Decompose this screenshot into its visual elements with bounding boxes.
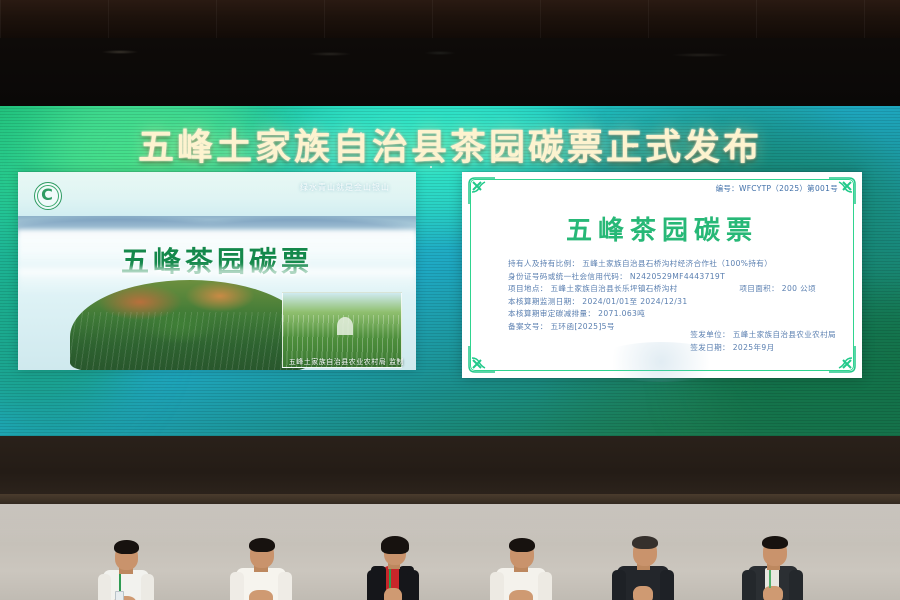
certificate-line-text: 身份证号码或统一社会信用代码： N2420529MF4443719T <box>508 272 725 281</box>
certificate-line: 本核算期监测日期： 2024/01/01至 2024/12/31 <box>508 296 838 309</box>
poster-panel: C 绿水青山就是金山银山 五峰茶园碳票 五峰土家族自治县农业农村局 监制 <box>18 172 416 370</box>
certificate-watermark <box>594 342 728 382</box>
clapping-hands <box>384 588 402 600</box>
hair <box>381 536 409 554</box>
carbon-ticket-certificate: 编号：WFCYTP（2025）第001号 五峰茶园碳票 持有人及持有比例： 五峰… <box>462 172 862 378</box>
certificate-line: 身份证号码或统一社会信用代码： N2420529MF4443719T <box>508 271 838 284</box>
event-headline: 五峰土家族自治县茶园碳票正式发布 <box>0 118 900 170</box>
ceiling-panel-seams <box>0 0 900 38</box>
logo-glyph: C <box>39 186 55 203</box>
arm-right <box>407 570 419 600</box>
arm-left <box>367 570 379 600</box>
certificate-line: 持有人及持有比例： 五峰土家族自治县石桥沟村经济合作社（100%持有） <box>508 258 838 271</box>
poster-inset-tree <box>337 317 353 335</box>
stage-edge-lip <box>0 494 900 504</box>
arm-right <box>278 572 292 600</box>
hair <box>762 536 788 549</box>
green-certification-logo-icon: C <box>30 180 64 210</box>
certificate-title: 五峰茶园碳票 <box>462 210 862 247</box>
lanyard <box>769 568 771 588</box>
id-badge <box>115 591 124 600</box>
poster-slogan: 绿水青山就是金山银山 <box>300 182 390 193</box>
certificate-line-text: 项目地点： 五峰土家族自治县长乐坪镇石桥沟村 <box>508 284 678 293</box>
hair <box>114 540 139 554</box>
certificate-sign-unit: 签发单位： 五峰土家族自治县农业农村局 <box>690 328 836 341</box>
arm-left <box>98 574 111 600</box>
clapping-hands <box>763 586 783 600</box>
arm-left <box>612 570 626 600</box>
arm-right <box>660 570 674 600</box>
poster-credit: 五峰土家族自治县农业农村局 监制 <box>289 357 404 367</box>
clapping-hands <box>249 590 273 600</box>
clapping-hands <box>509 590 533 600</box>
corner-flourish-icon <box>467 344 497 374</box>
certificate-line: 项目地点： 五峰土家族自治县长乐坪镇石桥沟村 项目面积： 200 公顷 <box>508 283 838 296</box>
upper-wall-light-glints <box>0 44 900 68</box>
certificate-detail-list: 持有人及持有比例： 五峰土家族自治县石桥沟村经济合作社（100%持有） 身份证号… <box>508 258 838 334</box>
lanyard <box>389 568 391 588</box>
arm-right <box>141 574 154 600</box>
certificate-line-text: 本核算期审定碳减排量： 2071.063吨 <box>508 309 645 318</box>
poster-tea-rows <box>70 312 310 370</box>
certificate-line: 本核算期审定碳减排量： 2071.063吨 <box>508 308 838 321</box>
certificate-line-text: 持有人及持有比例： 五峰土家族自治县石桥沟村经济合作社（100%持有） <box>508 259 772 268</box>
screenshot-root: 五峰土家族自治县茶园碳票正式发布 C 绿水青山就是金山银山 五峰茶园碳票 五峰土… <box>0 0 900 600</box>
arm-right <box>538 572 552 600</box>
corner-flourish-icon <box>467 176 497 206</box>
certificate-line-text: 备案文号： 五环函[2025]5号 <box>508 322 615 331</box>
arm-right <box>789 570 803 600</box>
clapping-hands <box>633 586 653 600</box>
certificate-number: 编号：WFCYTP（2025）第001号 <box>716 183 838 194</box>
arm-left <box>230 572 244 600</box>
arm-left <box>490 572 504 600</box>
arm-left <box>742 570 756 600</box>
certificate-project-area: 项目面积： 200 公顷 <box>739 283 816 296</box>
certificate-line-text: 本核算期监测日期： 2024/01/01至 2024/12/31 <box>508 297 688 306</box>
hair <box>509 538 535 552</box>
stage-backdrop <box>0 436 900 502</box>
hair <box>632 536 658 549</box>
hair <box>249 538 275 552</box>
